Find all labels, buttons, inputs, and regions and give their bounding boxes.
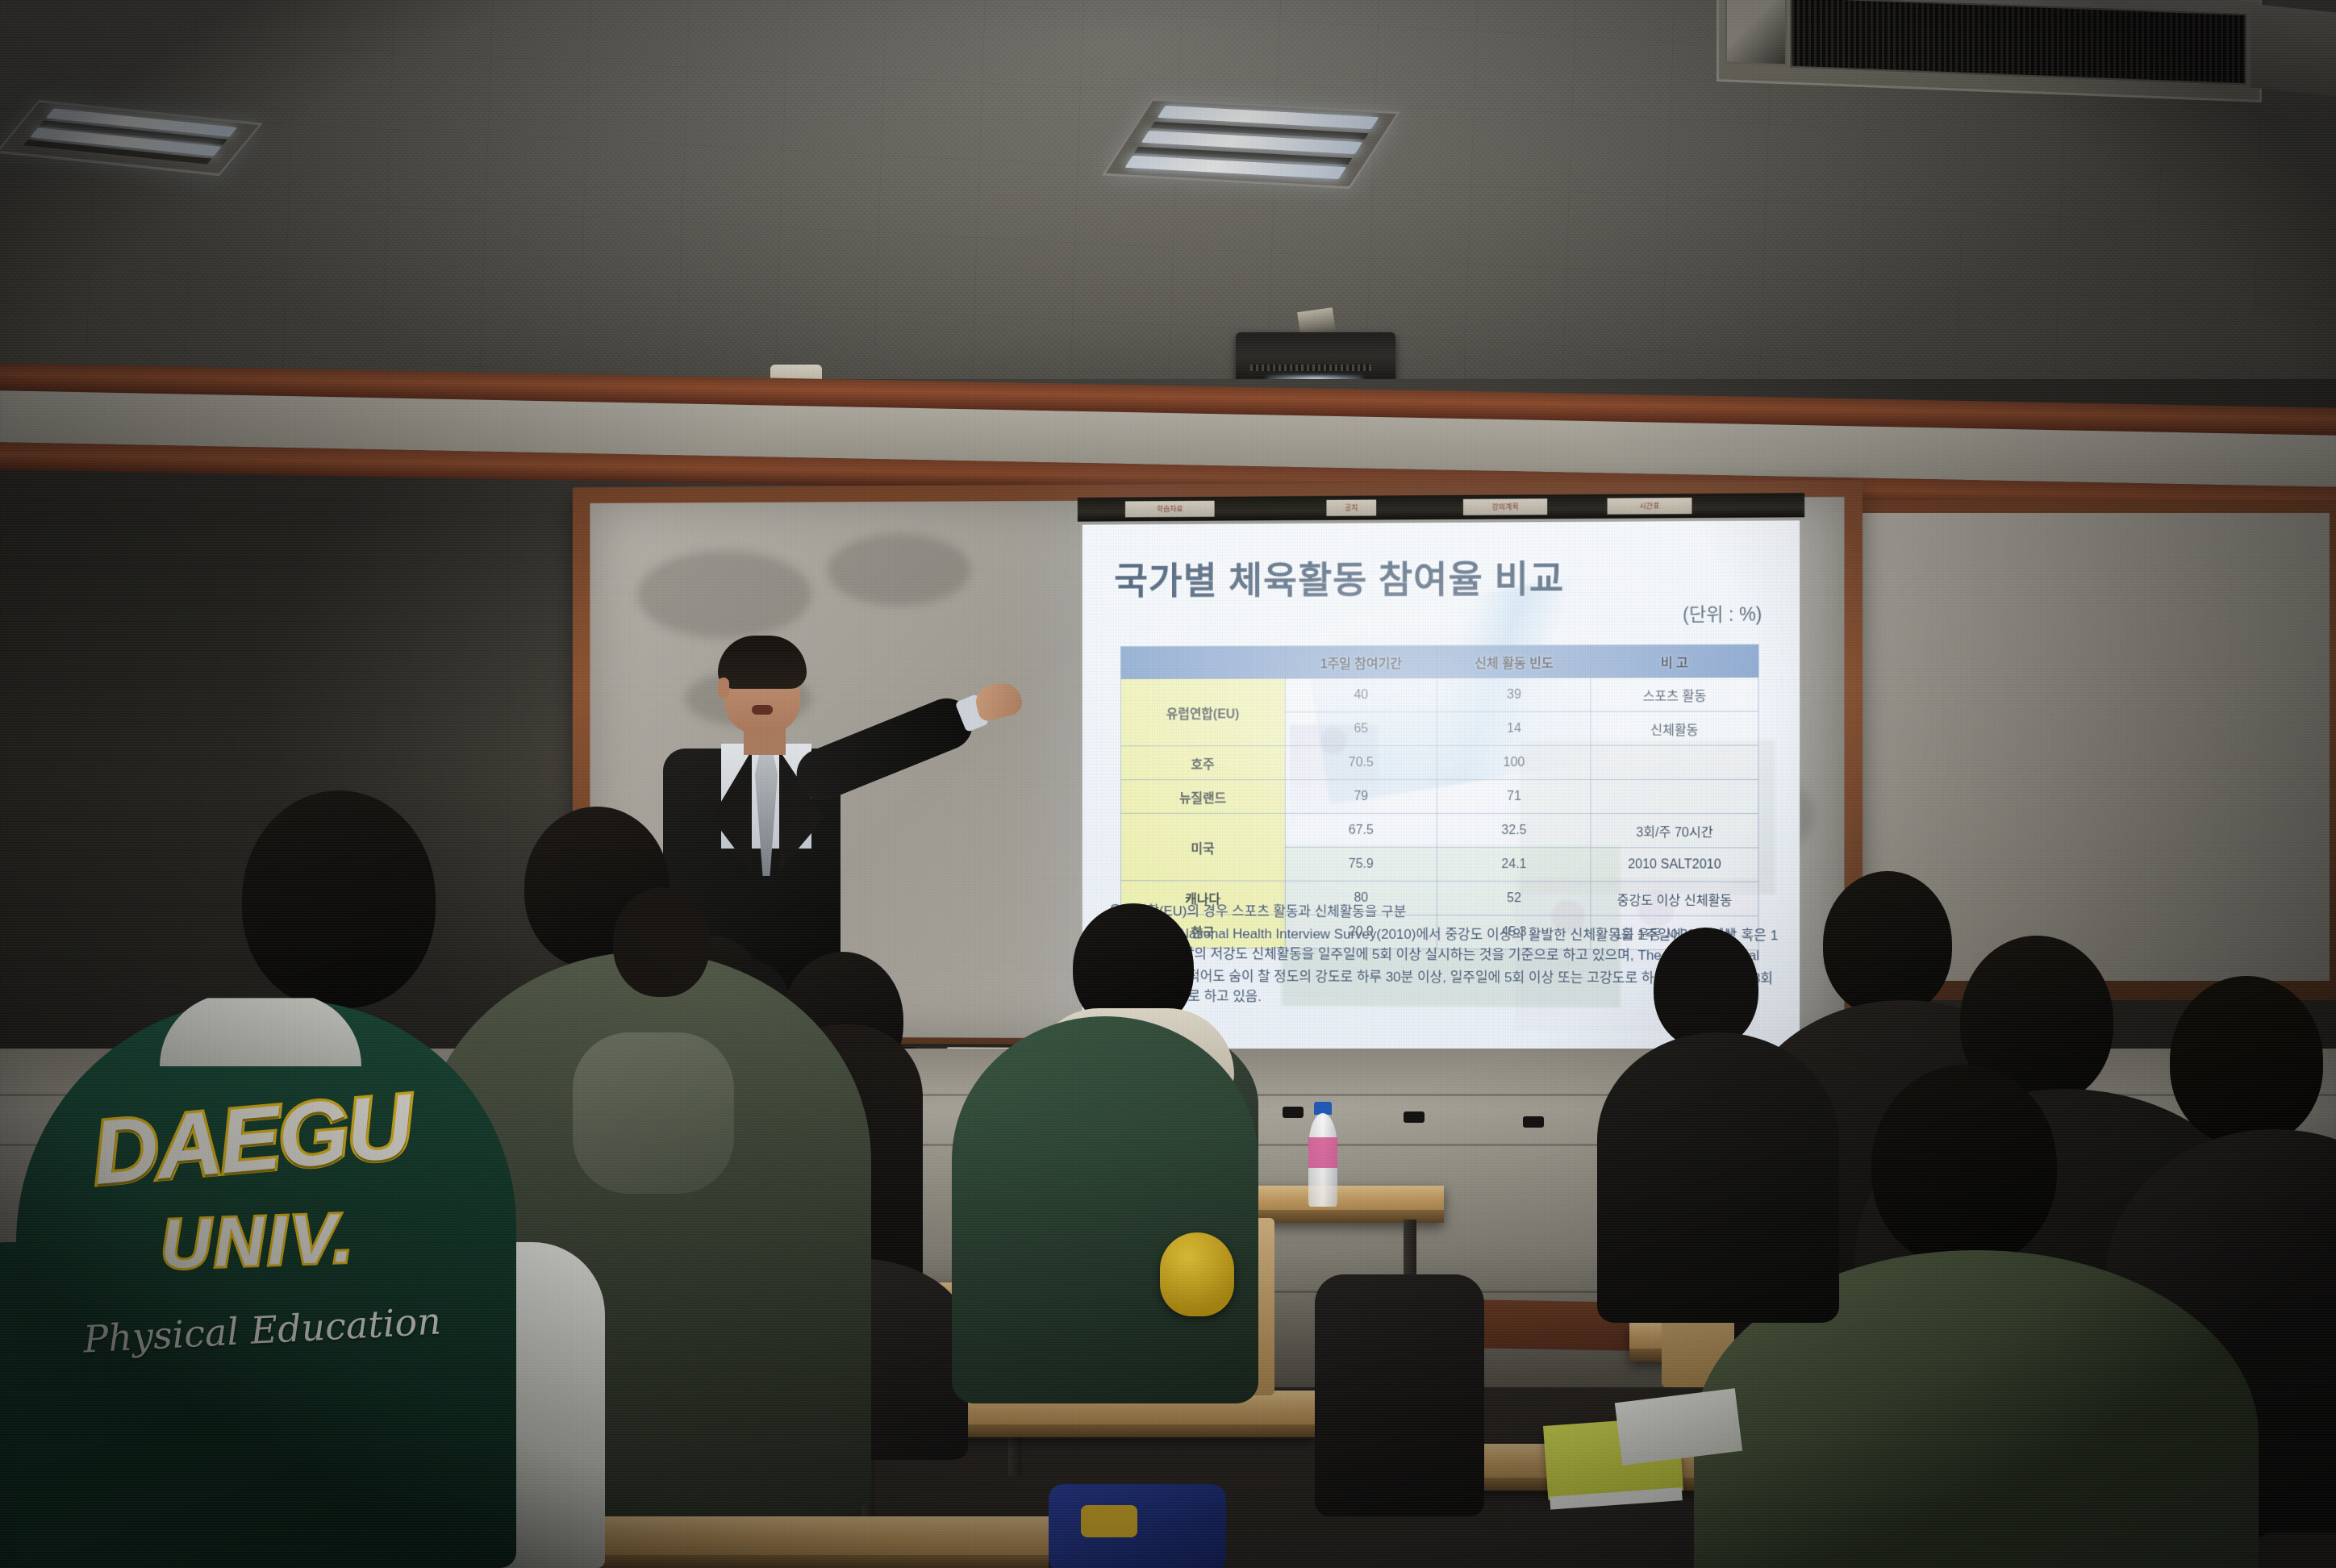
table-cell: 스포츠 활동: [1591, 678, 1758, 712]
table-header-row: 1주일 참여기간 신체 활동 빈도 비 고: [1121, 644, 1758, 678]
ac-vane-icon: [1725, 0, 1787, 65]
table-cell: 71: [1437, 779, 1591, 813]
table-cell: 신체활동: [1591, 711, 1758, 746]
table-cell: 65: [1285, 712, 1437, 746]
table-cell: [1591, 779, 1758, 813]
fluorescent-light-icon: [1102, 98, 1400, 190]
water-bottle: [1308, 1102, 1337, 1207]
classroom-photograph: 학습자료 공지 강의계획 시간표 국가별 체육활동 참여율 비교 (단위 : %…: [0, 0, 2336, 1568]
table-header-cell: 1주일 참여기간: [1285, 646, 1437, 678]
table-cell-country: 뉴질랜드: [1121, 780, 1285, 814]
table-cell-country: 유럽연합(EU): [1121, 678, 1285, 746]
cabinet-knob[interactable]: [1283, 1107, 1304, 1118]
table-cell: 67.5: [1285, 813, 1437, 847]
presenter-mouth: [752, 705, 773, 715]
table-row: 호주 70.5 100: [1121, 745, 1758, 780]
slide-title: 국가별 체육활동 참여율 비교: [1114, 548, 1767, 605]
table-row: 뉴질랜드 79 71: [1121, 779, 1758, 813]
air-conditioner-side-panel: [2250, 3, 2336, 96]
table-cell: 24.1: [1437, 847, 1591, 881]
table-cell: [1591, 745, 1758, 779]
rail-card: 학습자료: [1125, 501, 1215, 518]
table-header-cell: 신체 활동 빈도: [1437, 645, 1591, 678]
table-header-cell: 비 고: [1591, 644, 1758, 678]
cabinet-knob[interactable]: [1523, 1116, 1544, 1128]
slide-note-line: 유럽연합(EU)의 경우 스포츠 활동과 신체활동을 구분: [1109, 901, 1778, 924]
yellow-helmet: [1160, 1232, 1234, 1316]
table-cell: 32.5: [1437, 813, 1591, 847]
slide-unit-note: (단위 : %): [1683, 598, 1762, 627]
presenter-pointing-arm: [789, 690, 980, 807]
rail-card: 공지: [1326, 499, 1376, 515]
cabinet-knob[interactable]: [1404, 1111, 1425, 1123]
ac-grille-icon: [1790, 0, 2246, 85]
table-cell-country: 미국: [1121, 813, 1285, 881]
blue-bag: [1049, 1484, 1226, 1568]
table-cell: 39: [1437, 678, 1591, 711]
table-cell: 75.9: [1285, 847, 1437, 881]
varsity-jacket: DAEGU UNIV. Physical Education: [0, 1000, 637, 1568]
table-row: 유럽연합(EU) 40 39 스포츠 활동: [1121, 678, 1758, 713]
table-cell: 70.5: [1285, 746, 1437, 780]
bag-accessory: [1081, 1505, 1137, 1537]
table-cell: 79: [1285, 780, 1437, 814]
presenter-hair: [718, 636, 807, 689]
label-card-rail: 학습자료 공지 강의계획 시간표: [1078, 493, 1804, 522]
table-cell: 40: [1285, 678, 1437, 712]
presenter-ear: [718, 678, 729, 699]
table-cell: 14: [1437, 711, 1591, 745]
table-cell: 3회/주 70시간: [1591, 814, 1758, 848]
table-row: 미국 67.5 32.5 3회/주 70시간: [1121, 813, 1758, 848]
table-cell-country: 호주: [1121, 746, 1285, 780]
projector-vent: [1250, 365, 1371, 371]
table-cell: 100: [1437, 745, 1591, 779]
rail-card: 강의계획: [1463, 498, 1547, 515]
backpack: [1315, 1274, 1484, 1516]
table-cell: 2010 SALT2010: [1591, 848, 1758, 882]
notebook-pages: [1550, 1487, 1683, 1509]
bottle-label: [1308, 1137, 1337, 1168]
rail-card: 시간표: [1608, 498, 1692, 515]
table-header-cell: [1121, 646, 1285, 678]
jacket-text-univ-abbrev: UNIV.: [63, 1195, 453, 1289]
